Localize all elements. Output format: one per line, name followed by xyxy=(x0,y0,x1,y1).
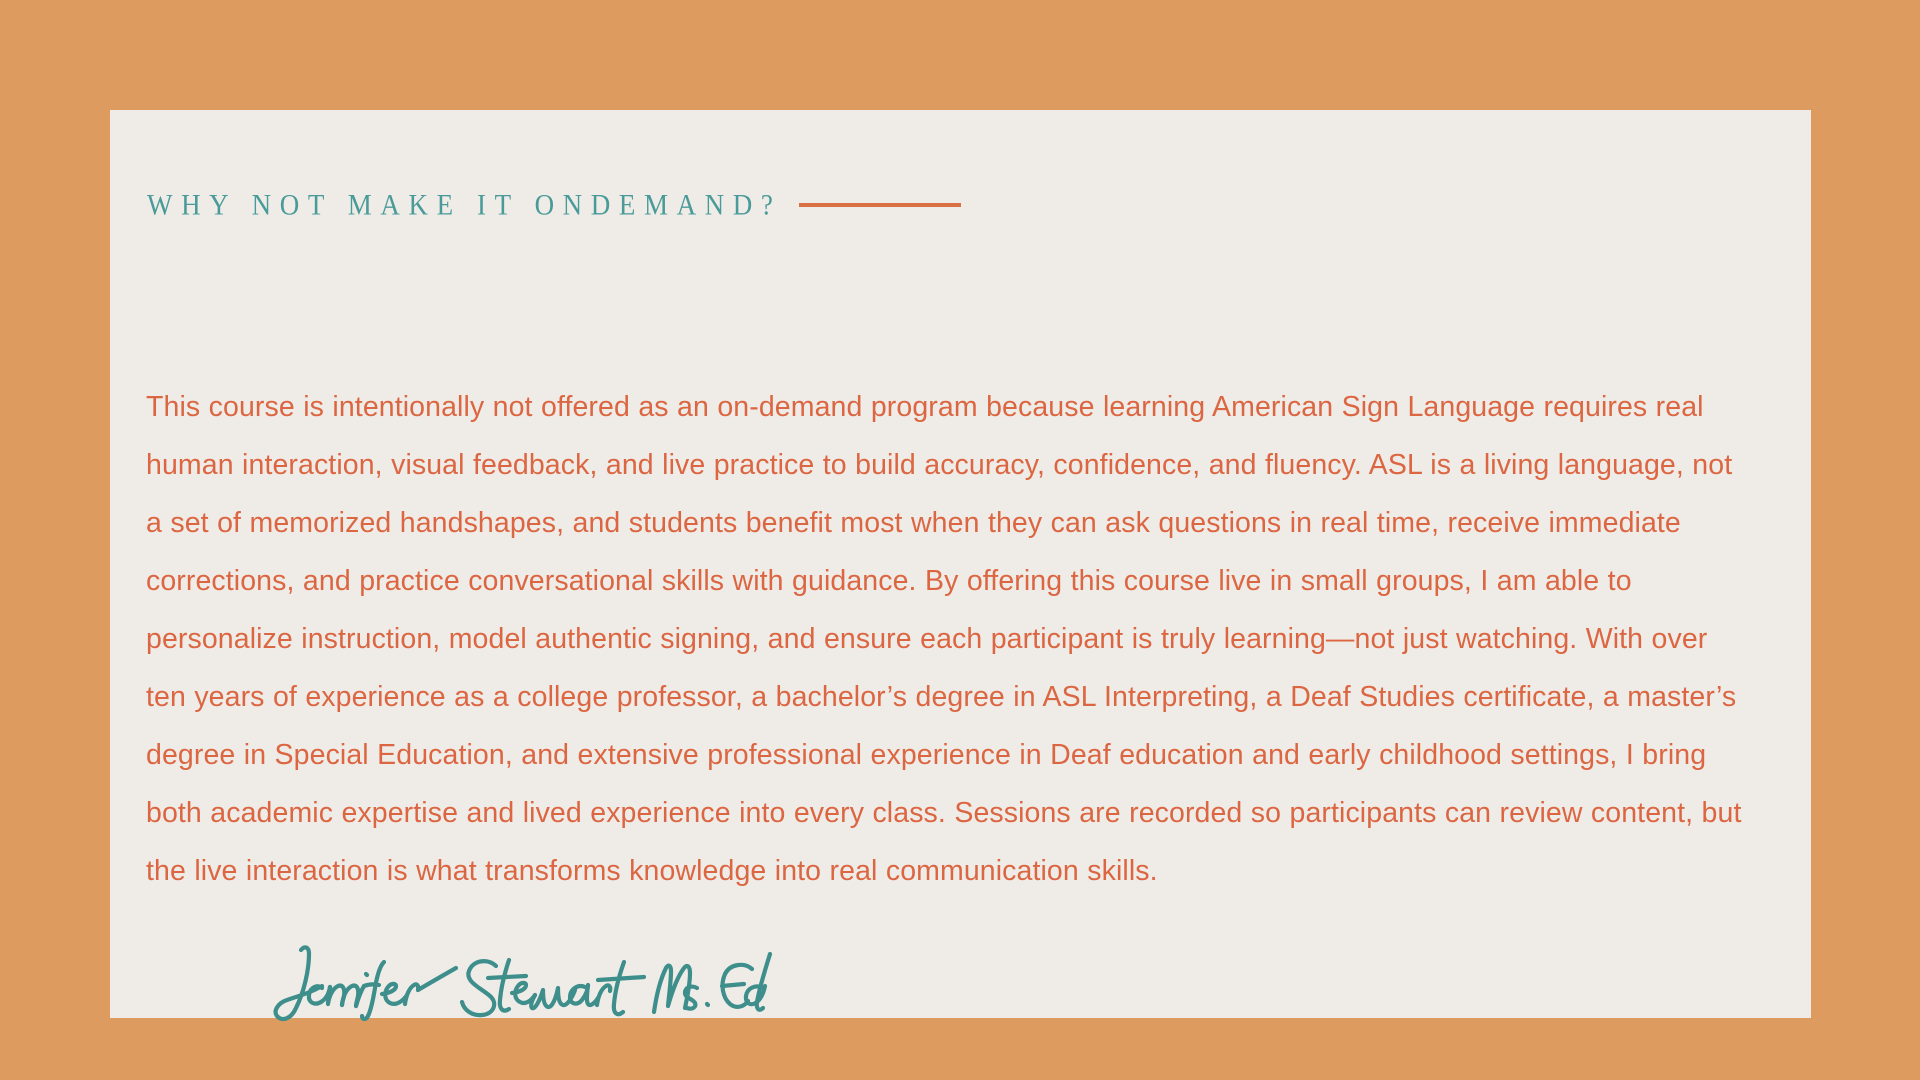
heading-rule-divider xyxy=(799,203,961,207)
page-title: WHY NOT MAKE IT ONDEMAND? xyxy=(147,190,781,219)
body-paragraph: This course is intentionally not offered… xyxy=(146,378,1746,900)
slide-canvas: WHY NOT MAKE IT ONDEMAND? This course is… xyxy=(0,0,1920,1080)
signature xyxy=(260,940,780,1030)
signature-script-icon xyxy=(260,940,780,1030)
heading-row: WHY NOT MAKE IT ONDEMAND? xyxy=(147,188,961,222)
content-card: WHY NOT MAKE IT ONDEMAND? This course is… xyxy=(110,110,1811,1018)
